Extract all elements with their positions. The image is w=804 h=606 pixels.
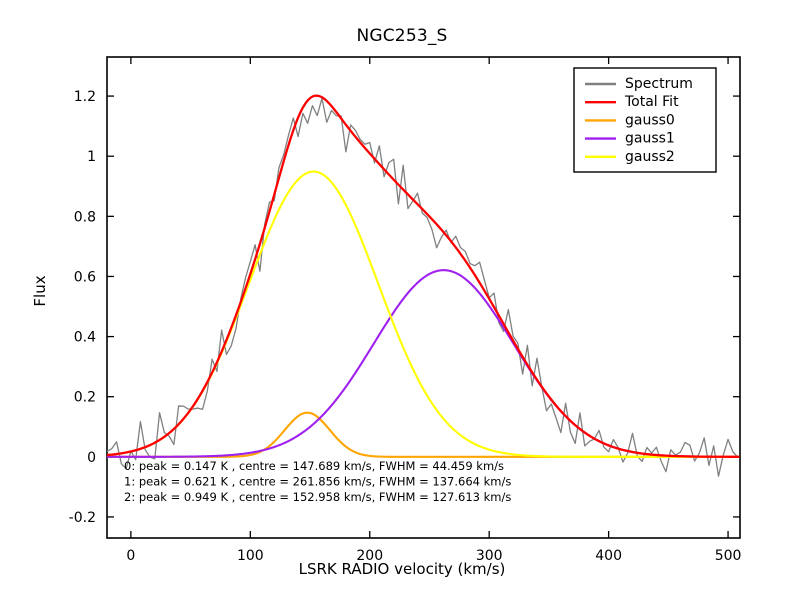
spectrum-figure: NGC253_S 0100200300400500-0.200.20.40.60…	[0, 0, 804, 606]
legend-label: gauss0	[625, 112, 675, 128]
fit-parameter-line: 1: peak = 0.621 K , centre = 261.856 km/…	[124, 475, 511, 489]
fit-parameter-line: 2: peak = 0.949 K , centre = 152.958 km/…	[124, 490, 511, 504]
gauss0-line	[107, 413, 739, 457]
plot-canvas: 0100200300400500-0.200.20.40.60.811.2Spe…	[0, 0, 804, 606]
y-tick-label: -0.2	[69, 510, 96, 526]
y-tick-label: 0.2	[74, 390, 96, 406]
y-tick-label: 0.8	[74, 209, 96, 225]
legend-label: Spectrum	[625, 76, 693, 92]
legend-label: gauss1	[625, 131, 675, 147]
x-axis-label: LSRK RADIO velocity (km/s)	[0, 560, 804, 578]
y-tick-label: 0.6	[74, 269, 96, 285]
legend: SpectrumTotal Fitgauss0gauss1gauss2	[574, 68, 716, 172]
fit-parameter-line: 0: peak = 0.147 K , centre = 147.689 km/…	[124, 459, 504, 473]
legend-label: gauss2	[625, 149, 675, 165]
y-tick-label: 0	[87, 450, 96, 466]
y-tick-label: 1.2	[74, 89, 96, 105]
y-axis-label: Flux	[31, 231, 49, 351]
y-tick-label: 1	[87, 149, 96, 165]
y-tick-label: 0.4	[74, 330, 96, 346]
legend-label: Total Fit	[624, 94, 679, 110]
gauss1-line	[107, 270, 739, 457]
fit-parameters-annotation: 0: peak = 0.147 K , centre = 147.689 km/…	[124, 459, 511, 504]
